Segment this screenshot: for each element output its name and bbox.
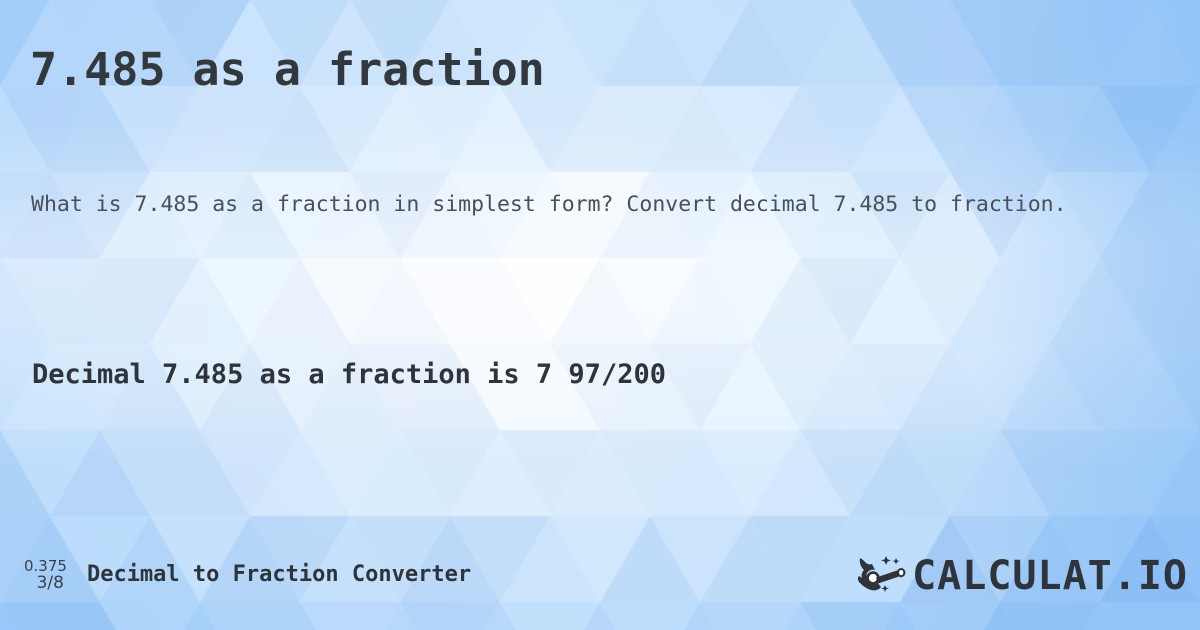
page-description: What is 7.485 as a fraction in simplest …: [31, 186, 1091, 223]
page-root: 7.485 as a fraction What is 7.485 as a f…: [0, 0, 1200, 630]
result-statement: Decimal 7.485 as a fraction is 7 97/200: [32, 355, 666, 395]
page-title: 7.485 as a fraction: [30, 42, 545, 98]
site-brand[interactable]: CALCULAT.IO: [856, 552, 1188, 600]
logo-fraction-value: 3/8: [24, 574, 67, 593]
magic-wand-hand-icon: [856, 554, 910, 598]
decimal-fraction-logo: 0.375 3/8: [24, 558, 69, 593]
brand-wordmark: CALCULAT.IO: [912, 554, 1188, 598]
logo-decimal-value: 0.375: [24, 558, 67, 574]
footer: 0.375 3/8 Decimal to Fraction Converter: [0, 548, 1200, 608]
footer-brand-left[interactable]: 0.375 3/8 Decimal to Fraction Converter: [24, 548, 471, 602]
footer-title: Decimal to Fraction Converter: [87, 548, 471, 602]
